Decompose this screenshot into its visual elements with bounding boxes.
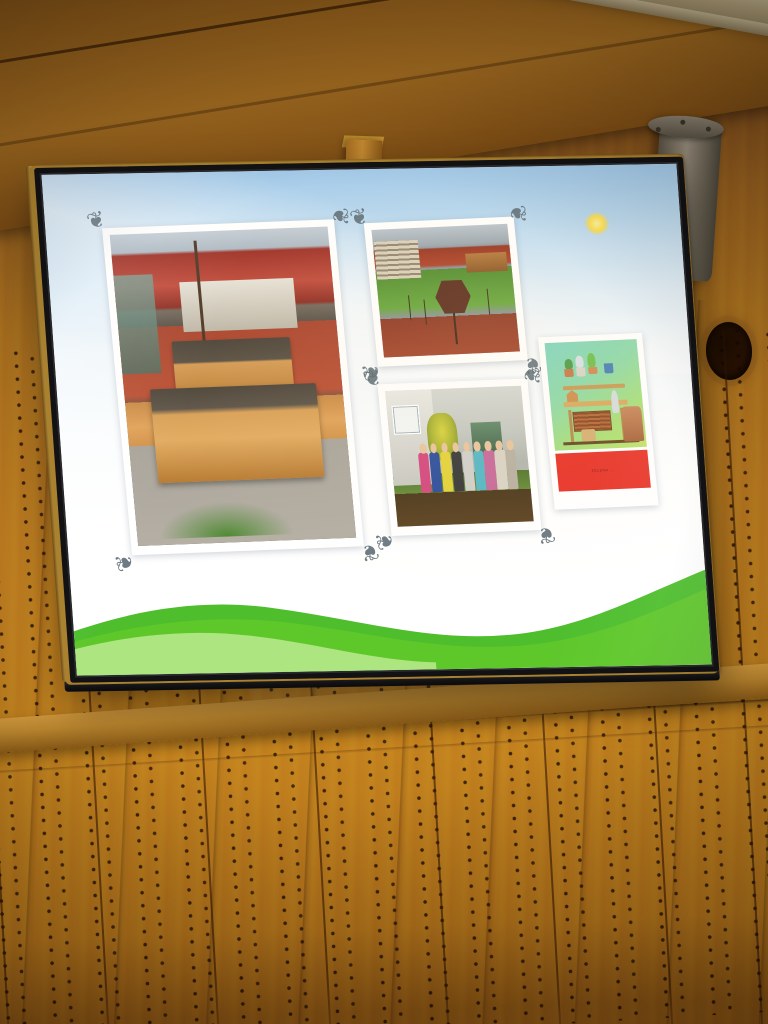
photo-school-children-group: ❦ ❦ ❦ ❦: [377, 378, 541, 536]
photo-fence: [113, 274, 161, 375]
illustration-artwork: [545, 339, 647, 451]
photo-image: [371, 224, 519, 358]
plant-icon: [565, 359, 573, 369]
swirl-ornament: ❦: [84, 209, 108, 235]
room-scene: ☕: [0, 0, 768, 1024]
presentation-slide: ❦ ❦ ❦ ❦ ❦: [42, 164, 712, 676]
photo-pallet-stack: [374, 239, 421, 279]
tv-screen[interactable]: ❦ ❦ ❦ ❦ ❦: [42, 164, 712, 676]
photo-raised-bed-front: [150, 383, 324, 483]
potting-bench-icon: [561, 373, 632, 443]
swirl-ornament: ❦: [505, 204, 527, 224]
photo-raised-garden-beds: ❦ ❦ ❦ ❦: [102, 219, 364, 555]
illustration-label-band: ZELENA ...: [555, 450, 651, 492]
swirl-ornament: ❦: [519, 365, 541, 385]
plant-icon: [587, 353, 596, 367]
illustration-potting-bench-card: ZELENA ...: [538, 333, 659, 510]
photo-image: [110, 227, 356, 546]
pot-icon: [581, 428, 597, 442]
photo-window: [392, 405, 421, 435]
photo-sign-post: [453, 311, 458, 344]
pot-icon: [604, 363, 614, 374]
photo-grass: [156, 500, 294, 539]
birdhouse-icon: [566, 390, 579, 403]
soil-sack-icon: [621, 406, 645, 441]
photo-image: [385, 386, 534, 527]
illustration-label-text: ZELENA ...: [592, 468, 615, 473]
photo-wooden-bed: [465, 252, 508, 273]
sun-icon: [585, 213, 610, 234]
photo-mulch-garden-sign: ❦ ❦ ❦ ❦: [364, 216, 528, 366]
photo-hexagon-sign: [434, 279, 473, 314]
swirl-ornament: ❦: [360, 361, 385, 382]
swirl-ornament: ❦: [361, 367, 385, 393]
wall-mounted-tv[interactable]: ❦ ❦ ❦ ❦ ❦: [34, 157, 719, 683]
plant-icon: [574, 355, 583, 367]
swirl-ornament: ❦: [327, 206, 349, 226]
swirl-ornament: ❦: [348, 206, 372, 231]
